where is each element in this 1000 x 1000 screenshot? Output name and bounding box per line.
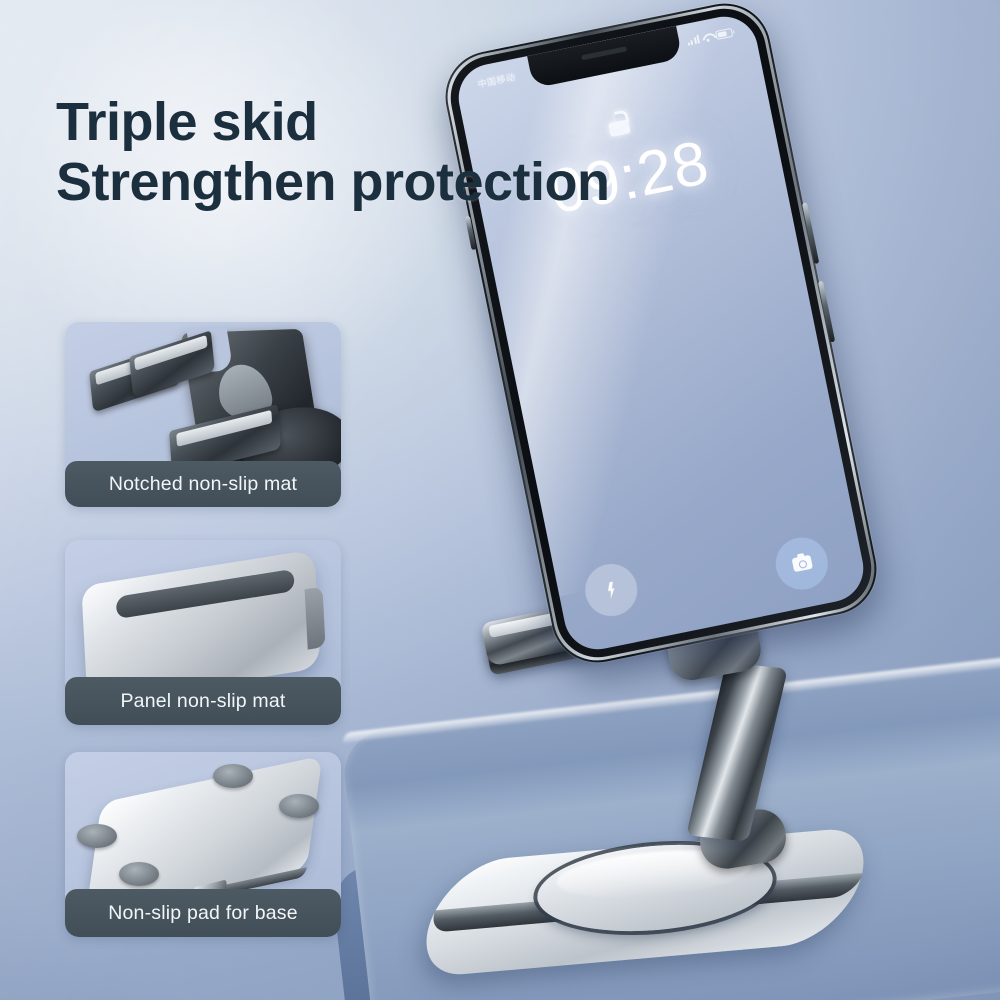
status-icons <box>686 27 733 45</box>
camera-shortcut-button[interactable] <box>771 533 832 594</box>
battery-icon <box>715 27 733 39</box>
feature-card-label: Non-slip pad for base <box>65 889 341 937</box>
feature-card-base-pad[interactable]: Non-slip pad for base <box>65 752 341 937</box>
panel-edge <box>305 587 326 650</box>
silicone-pad <box>134 335 207 371</box>
unlocked-padlock-icon <box>606 110 630 138</box>
camera-icon <box>791 555 812 573</box>
headline-line-2: Strengthen protection <box>56 152 610 212</box>
flashlight-icon <box>606 581 616 599</box>
non-slip-strip <box>116 569 295 619</box>
non-slip-pad <box>119 862 159 886</box>
flashlight-shortcut-button[interactable] <box>581 559 642 620</box>
non-slip-pad <box>279 794 319 818</box>
signal-icon <box>686 34 700 45</box>
feature-card-label: Notched non-slip mat <box>65 461 341 507</box>
feature-card-panel-mat[interactable]: Panel non-slip mat <box>65 540 341 725</box>
carrier-label: 中国移动 <box>476 70 516 90</box>
page-title: Triple skid Strengthen protection <box>56 92 610 213</box>
feature-card-label: Panel non-slip mat <box>65 677 341 725</box>
wifi-icon <box>701 31 714 42</box>
non-slip-pad <box>77 824 117 848</box>
non-slip-pad <box>213 764 253 788</box>
feature-card-notched-mat[interactable]: Notched non-slip mat <box>65 322 341 507</box>
product-marketing-image: Triple skid Strengthen protection <box>0 0 1000 1000</box>
headline-line-1: Triple skid <box>56 92 610 152</box>
padlock-body <box>608 119 630 137</box>
